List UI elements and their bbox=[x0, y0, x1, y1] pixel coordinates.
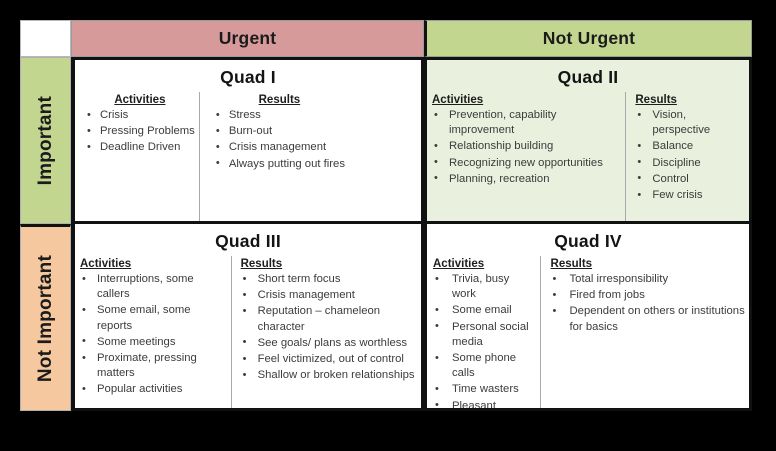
list-item: Crisis management bbox=[214, 140, 345, 155]
quadrant-quad-2-title: Quad II bbox=[427, 60, 749, 92]
quadrant-quad-2-results-title: Results bbox=[635, 94, 745, 106]
quadrant-quad-2-activities-title: Activities bbox=[432, 94, 621, 106]
list-item: Balance bbox=[635, 139, 745, 154]
list-item: Popular activities bbox=[80, 382, 227, 397]
list-item: Fired from jobs bbox=[551, 288, 745, 303]
row-header-important: Important bbox=[20, 57, 71, 224]
quadrant-quad-4-activities: Activities Trivia, busy work Some email … bbox=[427, 256, 540, 408]
list-item: Deadline Driven bbox=[85, 140, 195, 155]
list-item: Short term focus bbox=[241, 272, 417, 287]
quadrant-quad-4-activities-title: Activities bbox=[433, 258, 536, 270]
list-item: Control bbox=[635, 172, 745, 187]
list-item: Stress bbox=[214, 108, 345, 123]
row-header-not-important: Not Important bbox=[20, 224, 71, 411]
list-item: Shallow or broken relationships bbox=[241, 368, 417, 383]
quadrant-quad-3-results: Results Short term focus Crisis manageme… bbox=[231, 256, 421, 408]
quadrant-quad-3-results-title: Results bbox=[241, 258, 417, 270]
quadrant-quad-1-results: Results Stress Burn-out Crisis managemen… bbox=[199, 92, 349, 221]
list-item: Relationship building bbox=[432, 139, 621, 154]
quadrant-quad-1-columns: Activities Crisis Pressing Problems Dead… bbox=[75, 92, 421, 221]
matrix-grid: Urgent Not Urgent Important Quad I Activ… bbox=[20, 20, 752, 411]
quadrant-quad-3-activities: Activities Interruptions, some callers S… bbox=[75, 256, 231, 408]
quadrant-quad-3-activities-title: Activities bbox=[80, 258, 227, 270]
list-item: Trivia, busy work bbox=[433, 272, 536, 302]
quadrant-quad-1-activities: Activities Crisis Pressing Problems Dead… bbox=[75, 92, 199, 221]
list-item: Reputation – chameleon character bbox=[241, 304, 417, 334]
quadrant-quad-4-results-title: Results bbox=[551, 258, 745, 270]
quadrant-quad-3-results-list: Short term focus Crisis management Reput… bbox=[241, 272, 417, 383]
column-header-urgent: Urgent bbox=[71, 20, 424, 57]
column-header-urgent-label: Urgent bbox=[219, 28, 277, 49]
quadrant-quad-2-activities-list: Prevention, capability improvement Relat… bbox=[432, 108, 621, 187]
list-item: Crisis bbox=[85, 108, 195, 123]
quadrant-quad-3-columns: Activities Interruptions, some callers S… bbox=[75, 256, 421, 408]
list-item: Burn-out bbox=[214, 124, 345, 139]
column-header-not-urgent-label: Not Urgent bbox=[543, 28, 635, 49]
list-item: Some email, some reports bbox=[80, 303, 227, 333]
quadrant-quad-3-activities-list: Interruptions, some callers Some email, … bbox=[80, 272, 227, 398]
quadrant-quad-2-columns: Activities Prevention, capability improv… bbox=[427, 92, 749, 221]
list-item: Vision, perspective bbox=[635, 108, 745, 138]
eisenhower-matrix: Urgent Not Urgent Important Quad I Activ… bbox=[20, 20, 752, 411]
list-item: Crisis management bbox=[241, 288, 417, 303]
quadrant-quad-2-activities: Activities Prevention, capability improv… bbox=[427, 92, 625, 221]
quadrant-quad-1-activities-title: Activities bbox=[85, 94, 195, 106]
quadrant-quad-4-title: Quad IV bbox=[427, 224, 749, 256]
quadrant-quad-2-results-list: Vision, perspective Balance Discipline C… bbox=[635, 108, 745, 203]
quadrant-quad-1-results-list: Stress Burn-out Crisis management Always… bbox=[214, 108, 345, 172]
list-item: Always putting out fires bbox=[214, 157, 345, 172]
list-item: Dependent on others or institutions for … bbox=[551, 304, 745, 334]
list-item: Prevention, capability improvement bbox=[432, 108, 621, 138]
list-item: Feel victimized, out of control bbox=[241, 352, 417, 367]
list-item: Pressing Problems bbox=[85, 124, 195, 139]
quadrant-quad-3-title: Quad III bbox=[75, 224, 421, 256]
list-item: Some phone calls bbox=[433, 351, 536, 381]
list-item: Some meetings bbox=[80, 335, 227, 350]
matrix-corner-cell bbox=[20, 20, 71, 57]
quadrant-quad-2: Quad II Activities Prevention, capabilit… bbox=[424, 57, 752, 224]
quadrant-quad-4-results: Results Total irresponsibility Fired fro… bbox=[540, 256, 749, 408]
row-header-not-important-label: Not Important bbox=[35, 255, 57, 382]
list-item: Pleasant activities bbox=[433, 399, 536, 411]
list-item: Some email bbox=[433, 303, 536, 318]
quadrant-quad-1-results-title: Results bbox=[214, 94, 345, 106]
list-item: See goals/ plans as worthless bbox=[241, 336, 417, 351]
quadrant-quad-3: Quad III Activities Interruptions, some … bbox=[71, 224, 424, 411]
quadrant-quad-1-activities-list: Crisis Pressing Problems Deadline Driven bbox=[85, 108, 195, 156]
row-header-important-label: Important bbox=[35, 96, 57, 185]
quadrant-quad-1-title: Quad I bbox=[75, 60, 421, 92]
list-item: Total irresponsibility bbox=[551, 272, 745, 287]
list-item: Planning, recreation bbox=[432, 172, 621, 187]
quadrant-quad-4-columns: Activities Trivia, busy work Some email … bbox=[427, 256, 749, 408]
quadrant-quad-2-results: Results Vision, perspective Balance Disc… bbox=[625, 92, 749, 221]
list-item: Proximate, pressing matters bbox=[80, 351, 227, 381]
list-item: Personal social media bbox=[433, 320, 536, 350]
quadrant-quad-4-results-list: Total irresponsibility Fired from jobs D… bbox=[551, 272, 745, 335]
quadrant-quad-1: Quad I Activities Crisis Pressing Proble… bbox=[71, 57, 424, 224]
list-item: Interruptions, some callers bbox=[80, 272, 227, 302]
list-item: Few crisis bbox=[635, 188, 745, 203]
quadrant-quad-4-activities-list: Trivia, busy work Some email Personal so… bbox=[433, 272, 536, 411]
list-item: Time wasters bbox=[433, 382, 536, 397]
column-header-not-urgent: Not Urgent bbox=[424, 20, 752, 57]
list-item: Discipline bbox=[635, 156, 745, 171]
list-item: Recognizing new opportunities bbox=[432, 156, 621, 171]
quadrant-quad-4: Quad IV Activities Trivia, busy work Som… bbox=[424, 224, 752, 411]
